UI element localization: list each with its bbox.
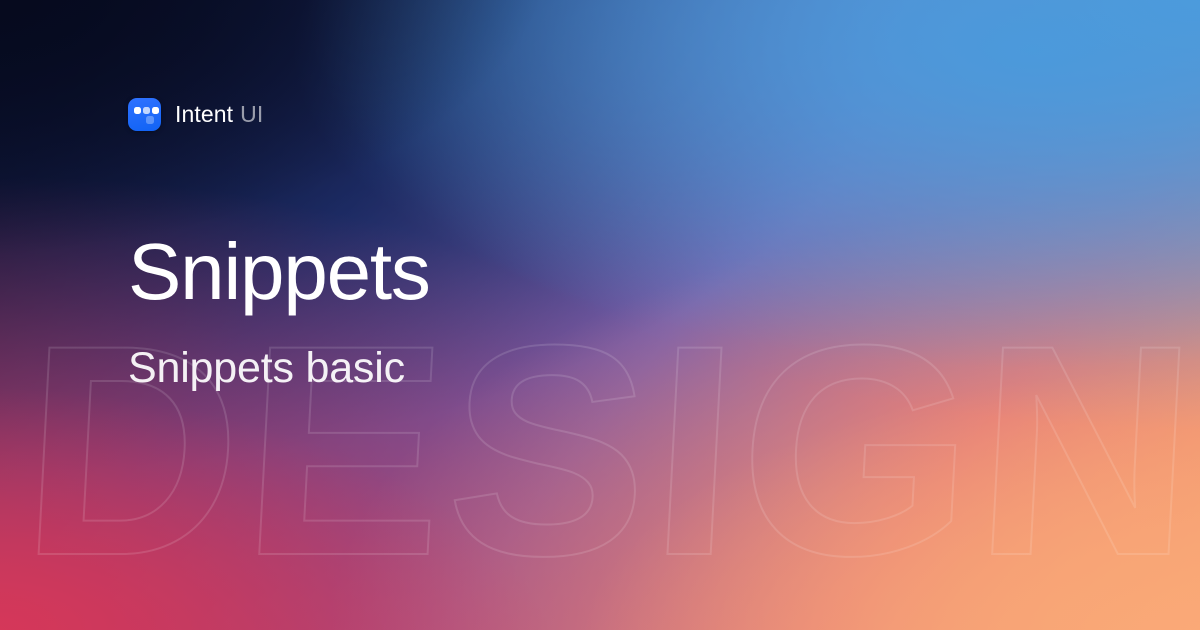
brand-lockup[interactable]: IntentUI <box>128 98 263 131</box>
og-card: DESIGN IntentUI Snippets Snippets basic <box>0 0 1200 630</box>
logo-square-3 <box>152 107 159 114</box>
logo-square-1 <box>134 107 141 114</box>
hero-text-block: Snippets Snippets basic <box>128 232 430 391</box>
brand-name-primary: Intent <box>175 101 233 127</box>
page-subtitle: Snippets basic <box>128 346 430 391</box>
brand-name-suffix: UI <box>240 101 263 127</box>
logo-square-2 <box>143 107 150 114</box>
logo-square-4 <box>146 116 154 124</box>
brand-name: IntentUI <box>175 101 263 128</box>
page-title: Snippets <box>128 232 430 312</box>
intent-ui-logo-icon <box>128 98 161 131</box>
